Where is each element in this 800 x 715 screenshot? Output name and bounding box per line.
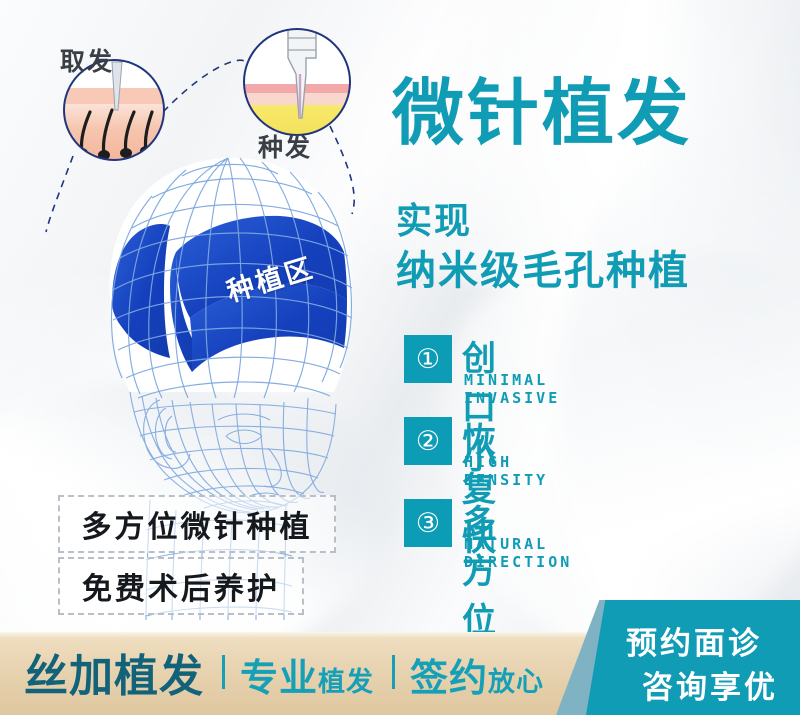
footer-brand-row: 丝加植发 专业植发 签约放心	[24, 640, 544, 704]
poster-root: 取发 种发 后枕部取发区 种植区 微针植发 实现 纳米级毛孔种植 ① 创口小 M…	[0, 0, 800, 715]
feature-badge-1: ①	[404, 335, 452, 383]
brand-name: 丝加植发	[24, 640, 204, 704]
feature-subtitle-3: NATURAL DIRECTION	[464, 535, 572, 571]
page-title: 微针植发	[392, 78, 692, 150]
footer-divider-2	[392, 655, 395, 689]
feature-number-1: ①	[416, 346, 440, 373]
promise-box-1: 多方位微针种植	[58, 495, 336, 553]
footer-slogan-1: 专业植发	[240, 647, 374, 702]
footer-slogan-1-big: 专业	[240, 658, 318, 700]
subtitle-line-1: 实现	[396, 192, 472, 244]
footer-slogan-2-big: 签约	[410, 658, 488, 700]
feature-badge-2: ②	[404, 417, 452, 465]
feature-number-2: ②	[416, 428, 440, 455]
feature-subtitle-2: HIGH DENSITY	[464, 453, 548, 489]
footer-slogan-1-small: 植发	[318, 667, 374, 697]
callout-circle-implant	[244, 22, 350, 145]
promise-box-2: 免费术后养护	[58, 557, 304, 615]
callout-label-extract: 取发	[60, 42, 114, 78]
feature-badge-3: ③	[404, 499, 452, 547]
feature-subtitle-1: MINIMAL INVASIVE	[464, 371, 560, 407]
cta-line-1: 预约面诊	[626, 618, 762, 663]
subtitle-line-2: 纳米级毛孔种植	[396, 238, 690, 296]
footer-slogan-2-small: 放心	[488, 667, 544, 697]
callout-label-implant: 种发	[258, 128, 312, 164]
cta-line-2: 咨询享优惠	[642, 662, 800, 715]
footer-divider-1	[222, 655, 225, 689]
feature-number-3: ③	[416, 510, 440, 537]
silk-fold-4	[534, 106, 800, 655]
footer-slogan-2: 签约放心	[410, 647, 544, 702]
cta-panel[interactable]: 预约面诊 咨询享优惠	[586, 600, 800, 715]
